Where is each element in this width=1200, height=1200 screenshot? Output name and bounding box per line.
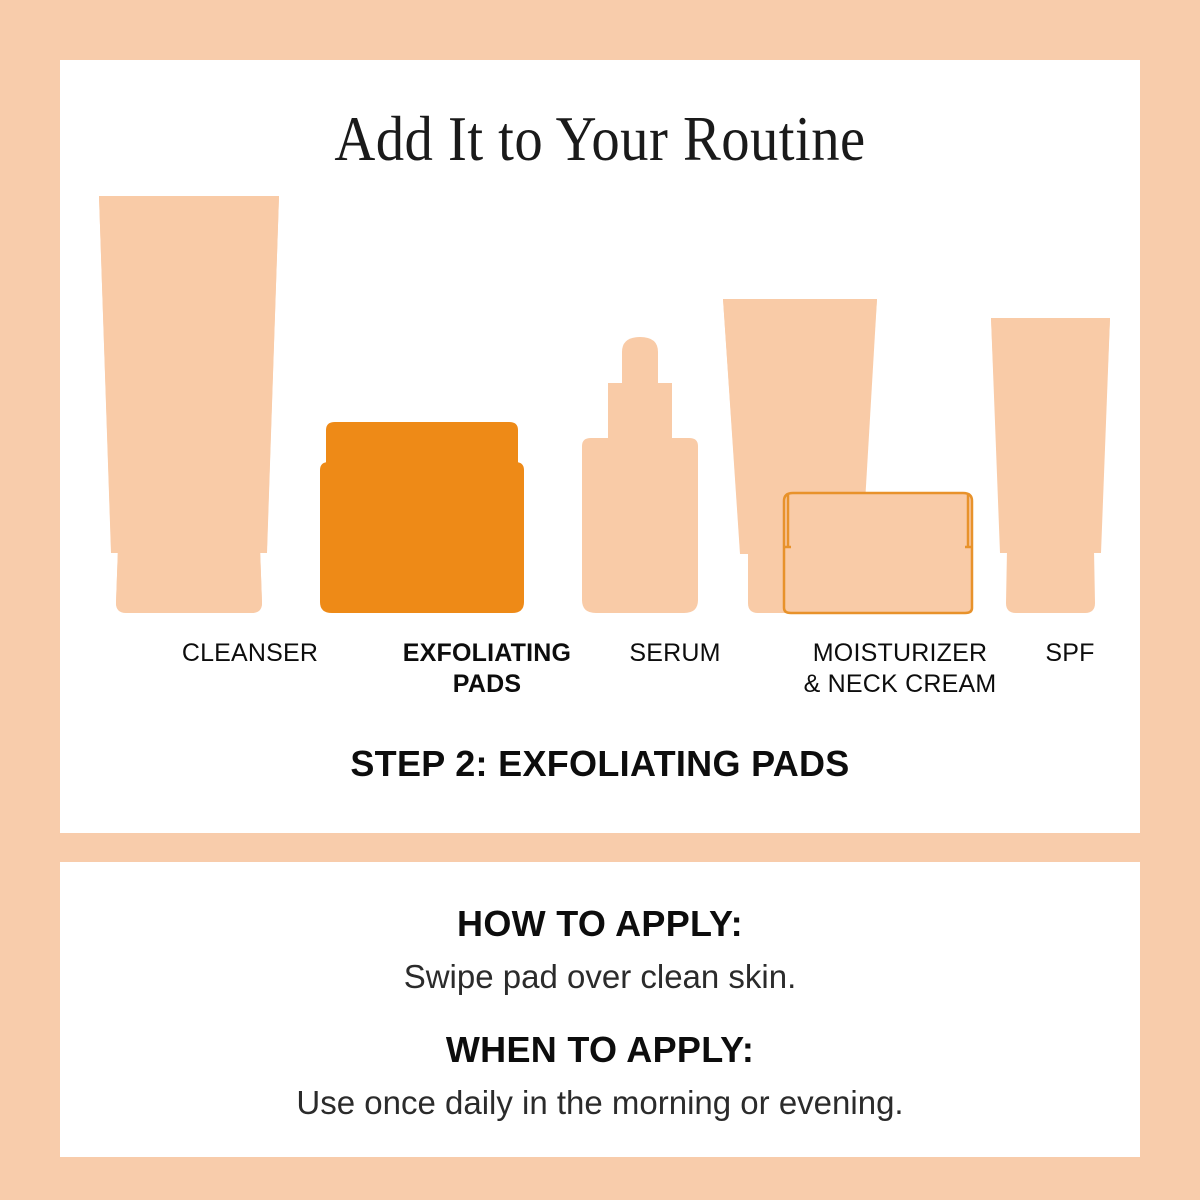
how-to-apply-block: HOW TO APPLY: Swipe pad over clean skin.	[60, 904, 1140, 996]
product-icon-serum[interactable]	[582, 337, 698, 613]
product-icon-cleanser[interactable]	[99, 196, 279, 613]
when-to-apply-heading: WHEN TO APPLY:	[60, 1030, 1140, 1070]
product-label-spf: SPF	[940, 638, 1200, 669]
infographic-page: Add It to Your Routine	[0, 0, 1200, 1200]
how-to-apply-heading: HOW TO APPLY:	[60, 904, 1140, 944]
routine-card: Add It to Your Routine	[60, 60, 1140, 833]
when-to-apply-block: WHEN TO APPLY: Use once daily in the mor…	[60, 1030, 1140, 1122]
when-to-apply-body: Use once daily in the morning or evening…	[60, 1084, 1140, 1122]
how-to-apply-card: HOW TO APPLY: Swipe pad over clean skin.…	[60, 862, 1140, 1157]
product-icon-spf[interactable]	[991, 318, 1110, 613]
step-heading: STEP 2: EXFOLIATING PADS	[60, 743, 1140, 785]
how-to-apply-body: Swipe pad over clean skin.	[60, 958, 1140, 996]
product-icon-exfoliating-pads[interactable]	[320, 422, 524, 613]
product-silhouettes	[60, 60, 1140, 660]
product-icon-neck-cream[interactable]	[784, 493, 972, 613]
product-lineup: CLEANSER EXFOLIATING PADS SERUM MOISTURI…	[60, 60, 1140, 833]
